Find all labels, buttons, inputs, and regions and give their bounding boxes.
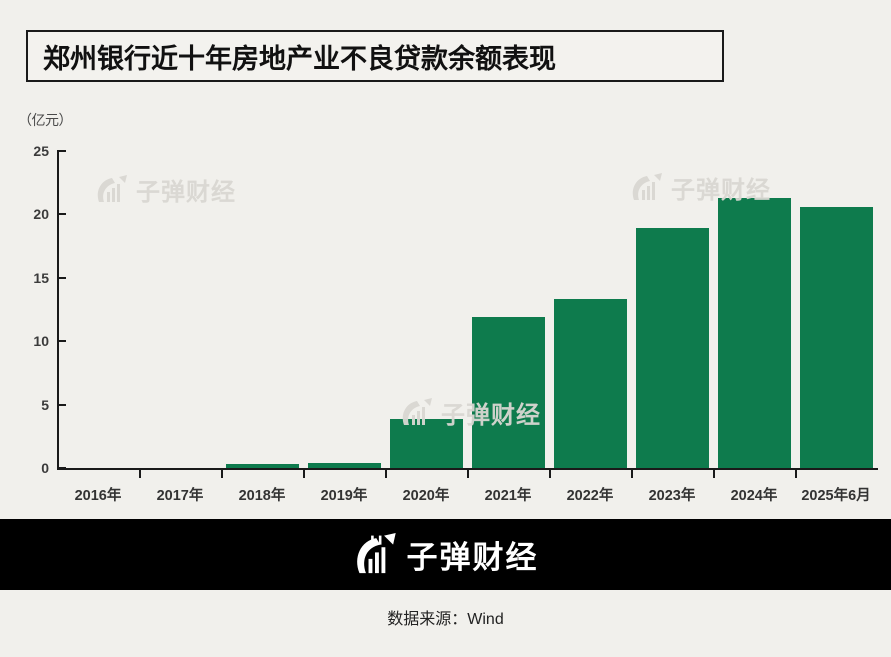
- footer-logo-band: 子弹财经: [0, 519, 891, 590]
- x-axis-tick: [795, 469, 797, 478]
- y-axis-tick-label: 20: [33, 206, 49, 222]
- bar: [718, 198, 791, 468]
- x-axis-category-label: 2025年6月: [801, 484, 870, 505]
- bar: [390, 419, 463, 468]
- y-axis-tick-label: 15: [33, 270, 49, 286]
- x-axis-category-label: 2017年: [157, 484, 204, 505]
- x-axis-tick: [221, 469, 223, 478]
- page-title: 郑州银行近十年房地产业不良贷款余额表现: [43, 37, 556, 76]
- bar-series: 2016年2017年2018年2019年2020年2021年2022年2023年…: [57, 151, 877, 468]
- y-axis-tick-label: 0: [41, 460, 49, 476]
- source-note: 数据来源：Wind: [0, 605, 891, 629]
- x-axis-tick: [467, 469, 469, 478]
- x-axis-category-label: 2020年: [403, 484, 450, 505]
- x-axis-tick: [631, 469, 633, 478]
- x-axis-tick: [139, 469, 141, 478]
- plot-area: 0510152025 2016年2017年2018年2019年2020年2021…: [57, 151, 877, 468]
- x-axis-category-label: 2024年: [731, 484, 778, 505]
- x-axis-category-label: 2022年: [567, 484, 614, 505]
- bar: [308, 463, 381, 468]
- y-axis-tick-label: 10: [33, 333, 49, 349]
- footer-logo-text: 子弹财经: [407, 532, 539, 577]
- x-axis-tick: [385, 469, 387, 478]
- chart-title-box: 郑州银行近十年房地产业不良贷款余额表现: [26, 30, 724, 82]
- y-axis-unit-label: （亿元）: [18, 110, 72, 130]
- x-axis-category-label: 2021年: [485, 484, 532, 505]
- y-axis-tick-label: 25: [33, 143, 49, 159]
- bar: [226, 464, 299, 468]
- x-axis-tick: [303, 469, 305, 478]
- y-axis-tick-label: 5: [41, 397, 49, 413]
- x-axis-tick: [549, 469, 551, 478]
- x-axis-category-label: 2019年: [321, 484, 368, 505]
- x-axis-tick: [713, 469, 715, 478]
- bar: [800, 207, 873, 468]
- x-axis-category-label: 2016年: [75, 484, 122, 505]
- bullet-logo-icon: [353, 532, 397, 578]
- bar: [636, 228, 709, 468]
- x-axis-category-label: 2023年: [649, 484, 696, 505]
- bar: [554, 299, 627, 468]
- bar: [472, 317, 545, 468]
- x-axis-category-label: 2018年: [239, 484, 286, 505]
- chart-page: 郑州银行近十年房地产业不良贷款余额表现 （亿元） 0510152025 2016…: [0, 0, 891, 657]
